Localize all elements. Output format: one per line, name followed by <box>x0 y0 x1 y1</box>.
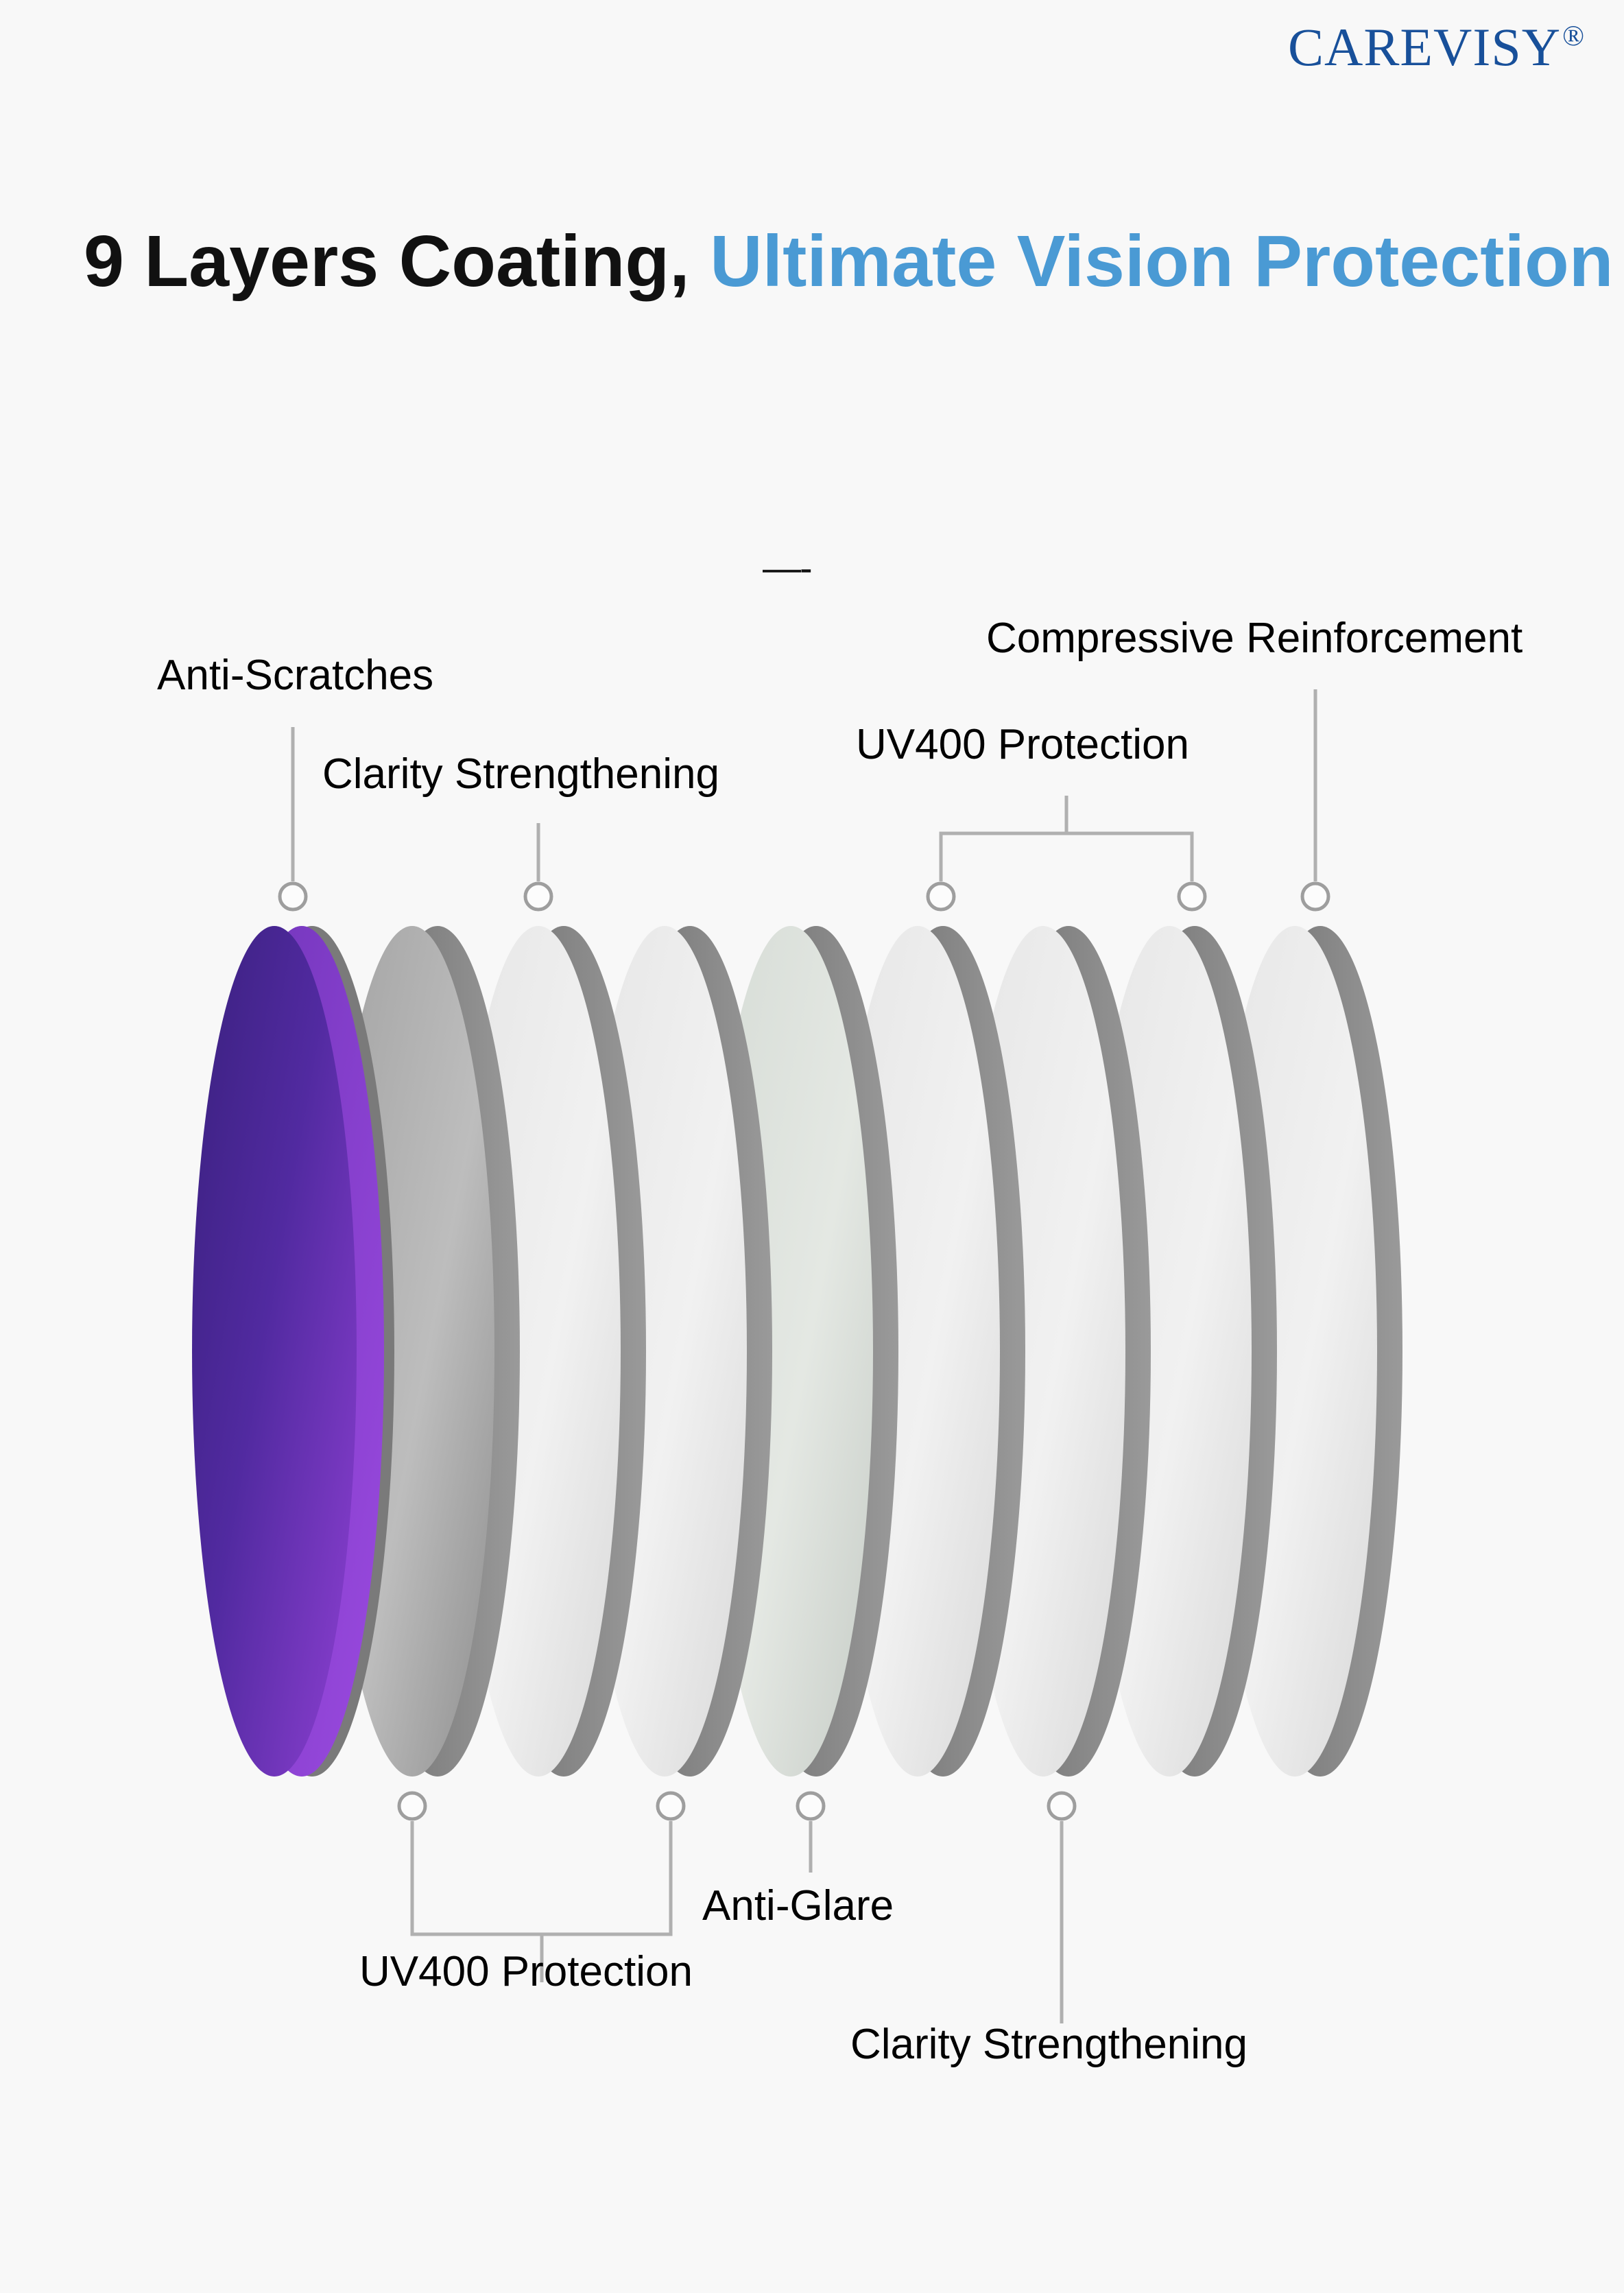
lens-layer-8 <box>1087 926 1277 1777</box>
label-anti-glare: Anti-Glare <box>702 1885 894 1927</box>
brand-name: CAREVISY <box>1288 21 1561 74</box>
label-uv400-protection-top: UV400 Protection <box>856 724 1189 766</box>
lens-layer-4 <box>582 926 772 1777</box>
leader-dot-clarity-bottom <box>1049 1793 1075 1819</box>
brand-logo: CAREVISY ® <box>1288 21 1584 74</box>
leader-markers-top <box>280 883 1328 910</box>
lens-layer-3 <box>456 926 646 1777</box>
lens-layer-6 <box>835 926 1025 1777</box>
leader-dot-uv400-top-right <box>1179 883 1205 910</box>
leader-dot-uv400-bottom-right <box>658 1793 684 1819</box>
leader-dot-uv400-bottom-left <box>399 1793 425 1819</box>
lens-layer-5 <box>708 926 898 1777</box>
registered-trademark-icon: ® <box>1562 22 1584 51</box>
lens-layer-7 <box>961 926 1151 1777</box>
label-clarity-strengthening-top: Clarity Strengthening <box>322 753 719 796</box>
leader-uv400-top-bracket <box>941 833 1192 881</box>
dash-mark: —- <box>763 549 811 587</box>
label-uv400-protection-bottom: UV400 Protection <box>359 1951 693 1993</box>
leader-dot-anti-scratches <box>280 883 306 910</box>
label-compressive-reinforcement: Compressive Reinforcement <box>986 617 1522 660</box>
label-clarity-strengthening-bottom: Clarity Strengthening <box>850 2023 1247 2066</box>
leader-dot-clarity-top <box>525 883 551 910</box>
leader-dot-compressive <box>1302 883 1328 910</box>
page-title-main: 9 Layers Coating, <box>84 221 690 302</box>
lens-layers <box>192 926 1402 1777</box>
page-title: 9 Layers Coating, Ultimate Vision Protec… <box>84 222 1613 302</box>
leader-dot-uv400-top-left <box>928 883 954 910</box>
label-anti-scratches: Anti-Scratches <box>157 654 433 697</box>
page-title-accent: Ultimate Vision Protection <box>710 221 1613 302</box>
lens-layer-2 <box>330 926 520 1777</box>
leader-uv400-bottom-bracket <box>412 1821 671 1934</box>
leader-dot-anti-glare <box>798 1793 824 1819</box>
leader-markers-bottom <box>399 1793 1075 1819</box>
lens-layer-diagram <box>0 0 1624 2293</box>
lens-layer-1 <box>192 926 394 1777</box>
lens-layer-9 <box>1213 926 1402 1777</box>
